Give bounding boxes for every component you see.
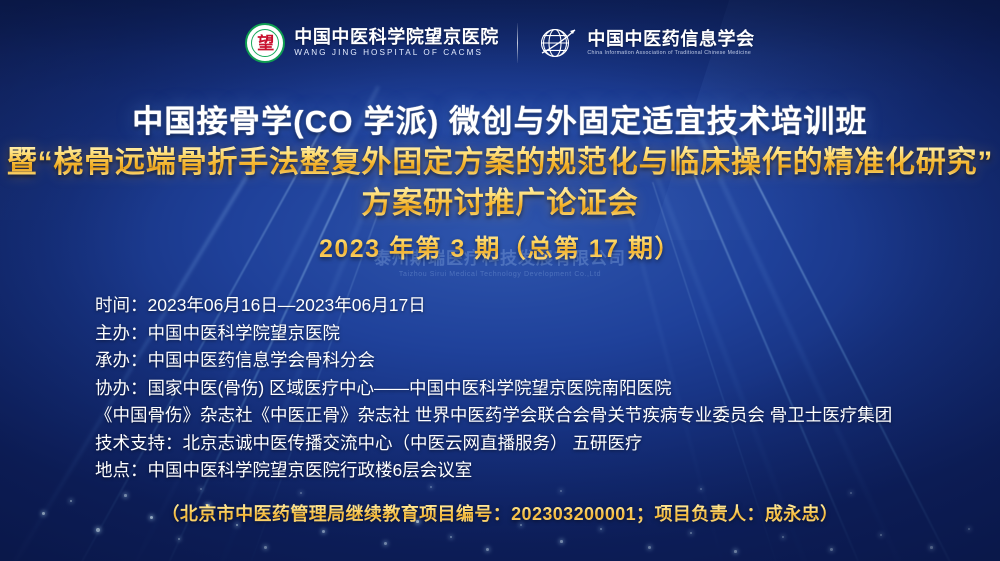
title-line-1: 中国接骨学(CO 学派) 微创与外固定适宜技术培训班 [0,102,1000,143]
particle [700,488,702,490]
particle [734,550,737,553]
detail-partners: 《中国骨伤》杂志社《中医正骨》杂志社 世界中医药学会联合会骨关节疾病专业委员会 … [95,402,892,430]
detail-time: 时间：2023年06月16日—2023年06月17日 [95,292,892,320]
wangjing-hospital-emblem-icon: 望 [245,23,285,63]
association-logo: 中国中医药信息学会 China Information Association … [536,22,754,64]
particle [560,490,562,492]
header-logos: 望 中国中医科学院望京医院 WANG JING HOSPITAL OF CACM… [0,22,1000,64]
particle [486,548,489,551]
particle [782,536,784,538]
hospital-name-cn: 中国中医科学院望京医院 [294,28,499,47]
particle [600,528,602,530]
title-group: 中国接骨学(CO 学派) 微创与外固定适宜技术培训班 暨“桡骨远端骨折手法整复外… [0,102,1000,265]
detail-venue: 地点：中国中医科学院望京医院行政楼6层会议室 [95,457,892,485]
particle [200,488,202,490]
detail-tech-support: 技术支持：北京志诚中医传播交流中心（中医云网直播服务） 五研医疗 [95,430,892,458]
particle [880,534,882,536]
detail-organizer: 承办：中国中医药信息学会骨科分会 [95,347,892,375]
hospital-logo-text: 中国中医科学院望京医院 WANG JING HOSPITAL OF CACMS [294,28,499,57]
particle [264,546,267,549]
particle [830,548,833,551]
watermark-name-en: Taizhou Sirui Medical Technology Develop… [0,271,1000,278]
title-line-3: 方案研讨推广论证会 [0,184,1000,223]
emblem-glyph: 望 [257,35,273,52]
detail-coorganizer: 协办：国家中医(骨伤) 区域医疗中心——中国中医科学院望京医院南阳医院 [95,375,892,403]
conference-banner: 望 中国中医科学院望京医院 WANG JING HOSPITAL OF CACM… [0,0,1000,561]
particle [178,538,180,540]
project-footnote: （北京市中医药管理局继续教育项目编号：202303200001；项目负责人：成永… [0,500,1000,526]
logo-divider [517,23,519,63]
particle [648,546,651,549]
particle [930,546,933,549]
particle [384,542,387,545]
particle [560,540,563,543]
event-details: 时间：2023年06月16日—2023年06月17日 主办：中国中医科学院望京医… [95,292,892,485]
globe-emblem-icon [536,22,578,64]
issue-number: 2023 年第 3 期（总第 17 期） [0,229,1000,265]
association-name-en: China Information Association of Traditi… [587,51,754,56]
association-name-cn: 中国中医药信息学会 [587,30,754,49]
particle [850,492,852,494]
particle [430,486,432,488]
particle [322,530,325,533]
particle [690,532,692,534]
particle [124,494,127,497]
particle [968,528,970,530]
association-logo-text: 中国中医药信息学会 China Information Association … [587,30,754,56]
particle [96,528,100,532]
title-line-2: 暨“桡骨远端骨折手法整复外固定方案的规范化与临床操作的精准化研究” [0,143,1000,182]
particle [300,492,302,494]
particle [450,536,452,538]
hospital-name-en: WANG JING HOSPITAL OF CACMS [294,49,499,57]
hospital-logo: 望 中国中医科学院望京医院 WANG JING HOSPITAL OF CACM… [245,23,499,63]
detail-host: 主办：中国中医科学院望京医院 [95,320,892,348]
